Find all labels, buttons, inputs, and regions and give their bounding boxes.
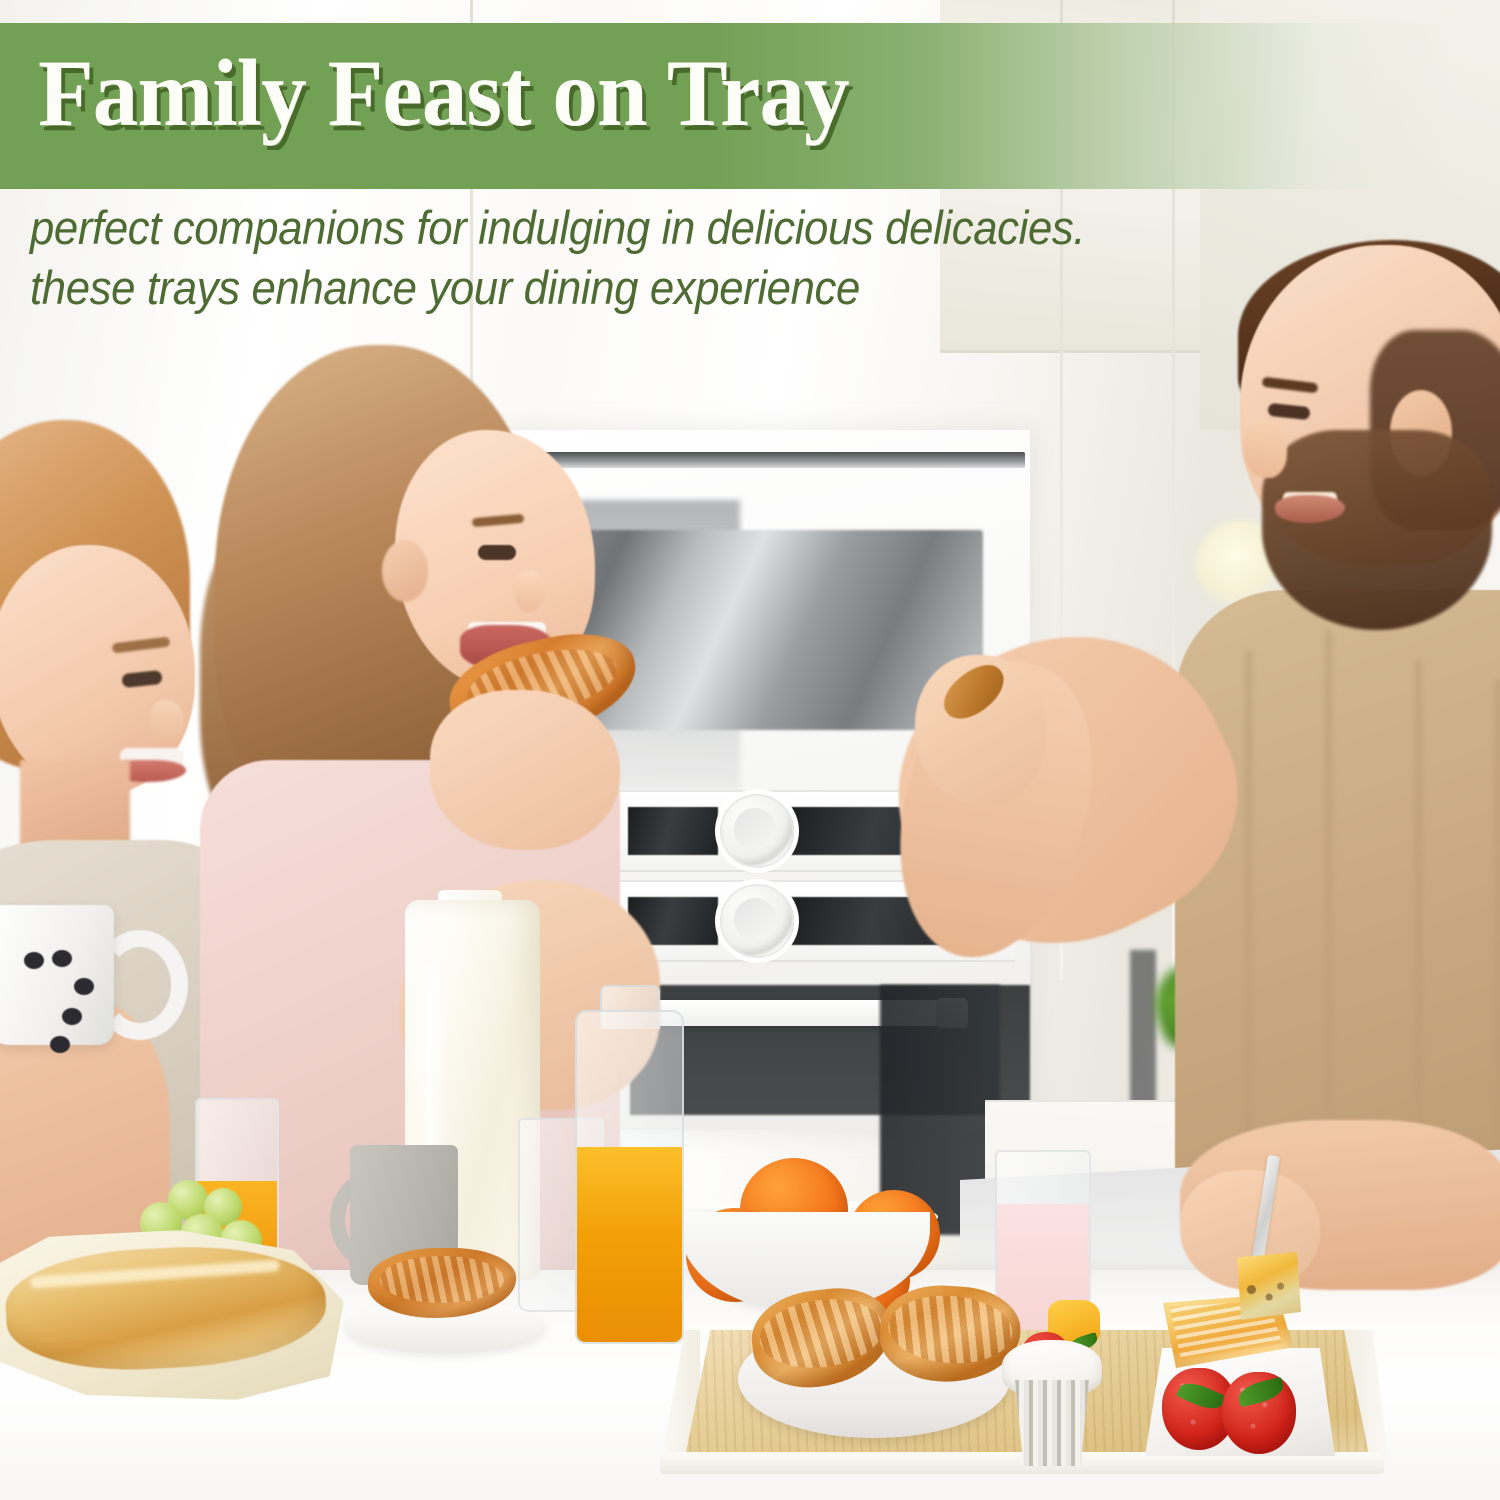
page-title: Family Feast on Tray (38, 46, 849, 141)
girl-eye (478, 545, 516, 560)
woman-nail (52, 950, 72, 967)
girl-hand (430, 690, 620, 850)
cake-bite-detail (1240, 1276, 1292, 1310)
woman-nail (50, 1036, 70, 1053)
orange-juice-carafe (575, 1010, 684, 1344)
oven-knob-icon (720, 794, 794, 868)
man-nose (1243, 420, 1287, 478)
page-subtitle: perfect companions for indulging in deli… (30, 198, 1369, 318)
girl-ear (382, 540, 428, 602)
cupcake-foil-cup (1010, 1380, 1094, 1466)
product-banner-image: Family Feast on Tray perfect companions … (0, 0, 1500, 1500)
woman-nail (24, 952, 44, 969)
woman-nail (74, 978, 94, 995)
man-beard (1262, 430, 1492, 630)
woman-nail (62, 1008, 82, 1025)
oven-knob-icon-2 (720, 884, 794, 958)
oven-display-left (628, 807, 718, 855)
oven-top-rail (505, 452, 1025, 468)
woman-white-mug (0, 905, 114, 1045)
